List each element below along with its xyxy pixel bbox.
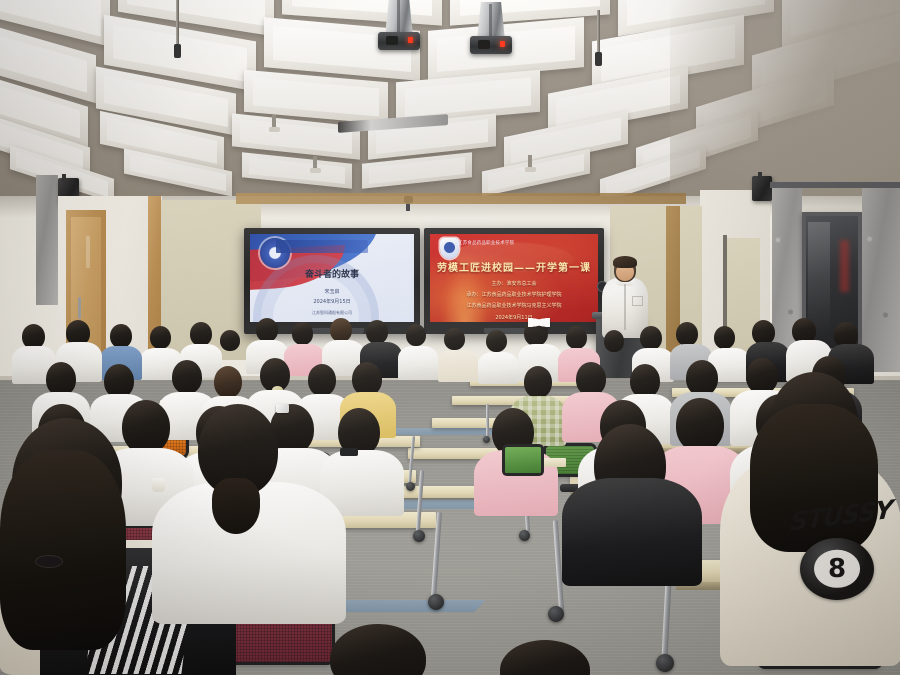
hanging-rod-1 [176,0,179,46]
student-ponytail [212,478,260,534]
student-head [352,362,382,396]
student-head [576,362,606,396]
sprinkler-head-3 [525,167,536,172]
student-head [630,364,660,398]
student-head [746,358,778,394]
student-head [676,322,698,346]
hair-bow [528,316,550,329]
student-head [604,330,624,352]
student-head [214,366,242,398]
right-wall-trim-top [770,182,900,188]
presenter-pocket [632,296,643,306]
right-screen-title: 劳模工匠进校园——开学第一课 [430,259,598,274]
right-screen-school-header: 江苏食品药品职业技术学院 [458,240,594,246]
left-screen-organization: 江苏智科通船有限公司 [250,310,414,316]
right-screen-host: 主办：淮安市总工会 [430,280,598,287]
left-door-handle [78,297,81,319]
student-head [640,326,662,350]
right-stone-column-far [862,182,900,372]
student-head [190,322,212,346]
desk-phone [340,448,358,456]
company-emblem-wordmark [276,240,368,253]
student-torso [478,352,518,384]
left-screen-presenter: 宋玉启 [250,288,414,295]
student-head [256,318,278,342]
student-torso [562,478,702,586]
right-wall-display-reflection [840,240,849,292]
left-stone-pier [36,175,58,305]
sprinkler-head-1 [269,127,280,132]
desk-paper-cup [152,478,165,492]
coorganizer-1-value: 江苏食品药品职业技术学院护理学院 [482,292,562,298]
chair-leg [486,404,489,438]
student-head [172,360,202,394]
student-head [366,320,388,344]
student-head [46,362,76,396]
student-torso [438,350,478,382]
eight-ball-graphic-icon: 8 [800,538,874,600]
lecture-hall-photo: 奋斗者的故事 宋玉启 2024年9月15日 江苏智科通船有限公司 江苏食品药品职… [0,0,900,675]
host-label: 主办： [491,281,506,287]
sprinkler-head-2 [310,168,321,173]
right-screen-coorganizer-1: 承办：江苏食品药品职业技术学院护理学院 [430,291,598,298]
chair-caster [548,606,564,622]
student-head [406,324,426,346]
coorganizer-label: 承办： [466,292,481,298]
hanging-rod-tip-2 [595,52,602,66]
student-head [524,366,552,398]
right-screen-coorganizer-2: 江苏食品药品职业技术学院马克思主义学院 [430,302,598,309]
student-head [444,328,465,350]
left-projection-screen: 奋斗者的故事 宋玉启 2024年9月15日 江苏智科通船有限公司 [250,234,414,322]
school-logo-icon [440,238,459,259]
left-door-lite [86,236,90,268]
chair-caster [483,436,490,443]
hair-clip [276,404,289,413]
chair-caster [406,482,415,491]
chair-caster [656,654,674,672]
right-wall-display-glare [808,222,830,332]
student-head [566,326,587,349]
desk-book [544,458,566,467]
student-head [330,318,352,342]
student-head [110,324,132,348]
host-value: 淮安市总工会 [507,281,537,287]
wall-speaker-right-bracket [758,172,762,178]
upper-wood-band [236,193,686,204]
student-head [122,400,170,454]
right-screen-date: 2024年9月11日 [430,314,598,321]
chair-caster [428,594,444,610]
student-torso [398,346,438,380]
hair-tie [36,556,62,567]
student-head [676,398,724,452]
left-screen-title: 奋斗者的故事 [250,267,414,280]
right-display-bezel: 江苏食品药品职业技术学院 劳模工匠进校园——开学第一课 主办：淮安市总工会 承办… [424,228,604,334]
presenter-hair [613,256,637,268]
student-head [486,330,507,352]
student-head [714,326,735,349]
left-screen-date: 2024年9月15日 [250,298,414,305]
chair-caster [413,530,425,542]
ceiling-projector-left [378,0,420,50]
student-head [150,326,171,349]
right-projection-screen: 江苏食品药品职业技术学院 劳模工匠进校园——开学第一课 主办：淮安市总工会 承办… [430,234,598,322]
hanging-rod-tip-1 [174,44,181,58]
wall-speaker-right [752,176,772,201]
eight-ball-number: 8 [814,550,860,588]
student-hair-long [0,450,126,650]
student-head [220,330,240,351]
student-head [308,364,336,396]
student-head [292,322,313,345]
student-head [686,360,718,396]
wall-speaker-left-bracket [62,174,66,181]
hanging-rod-2 [597,10,600,54]
chair-caster [519,530,530,541]
student-head [104,364,134,398]
desk-screen-green [505,447,541,473]
presenter-shirt-placket [624,284,626,330]
ceiling-projector-right [470,2,512,54]
